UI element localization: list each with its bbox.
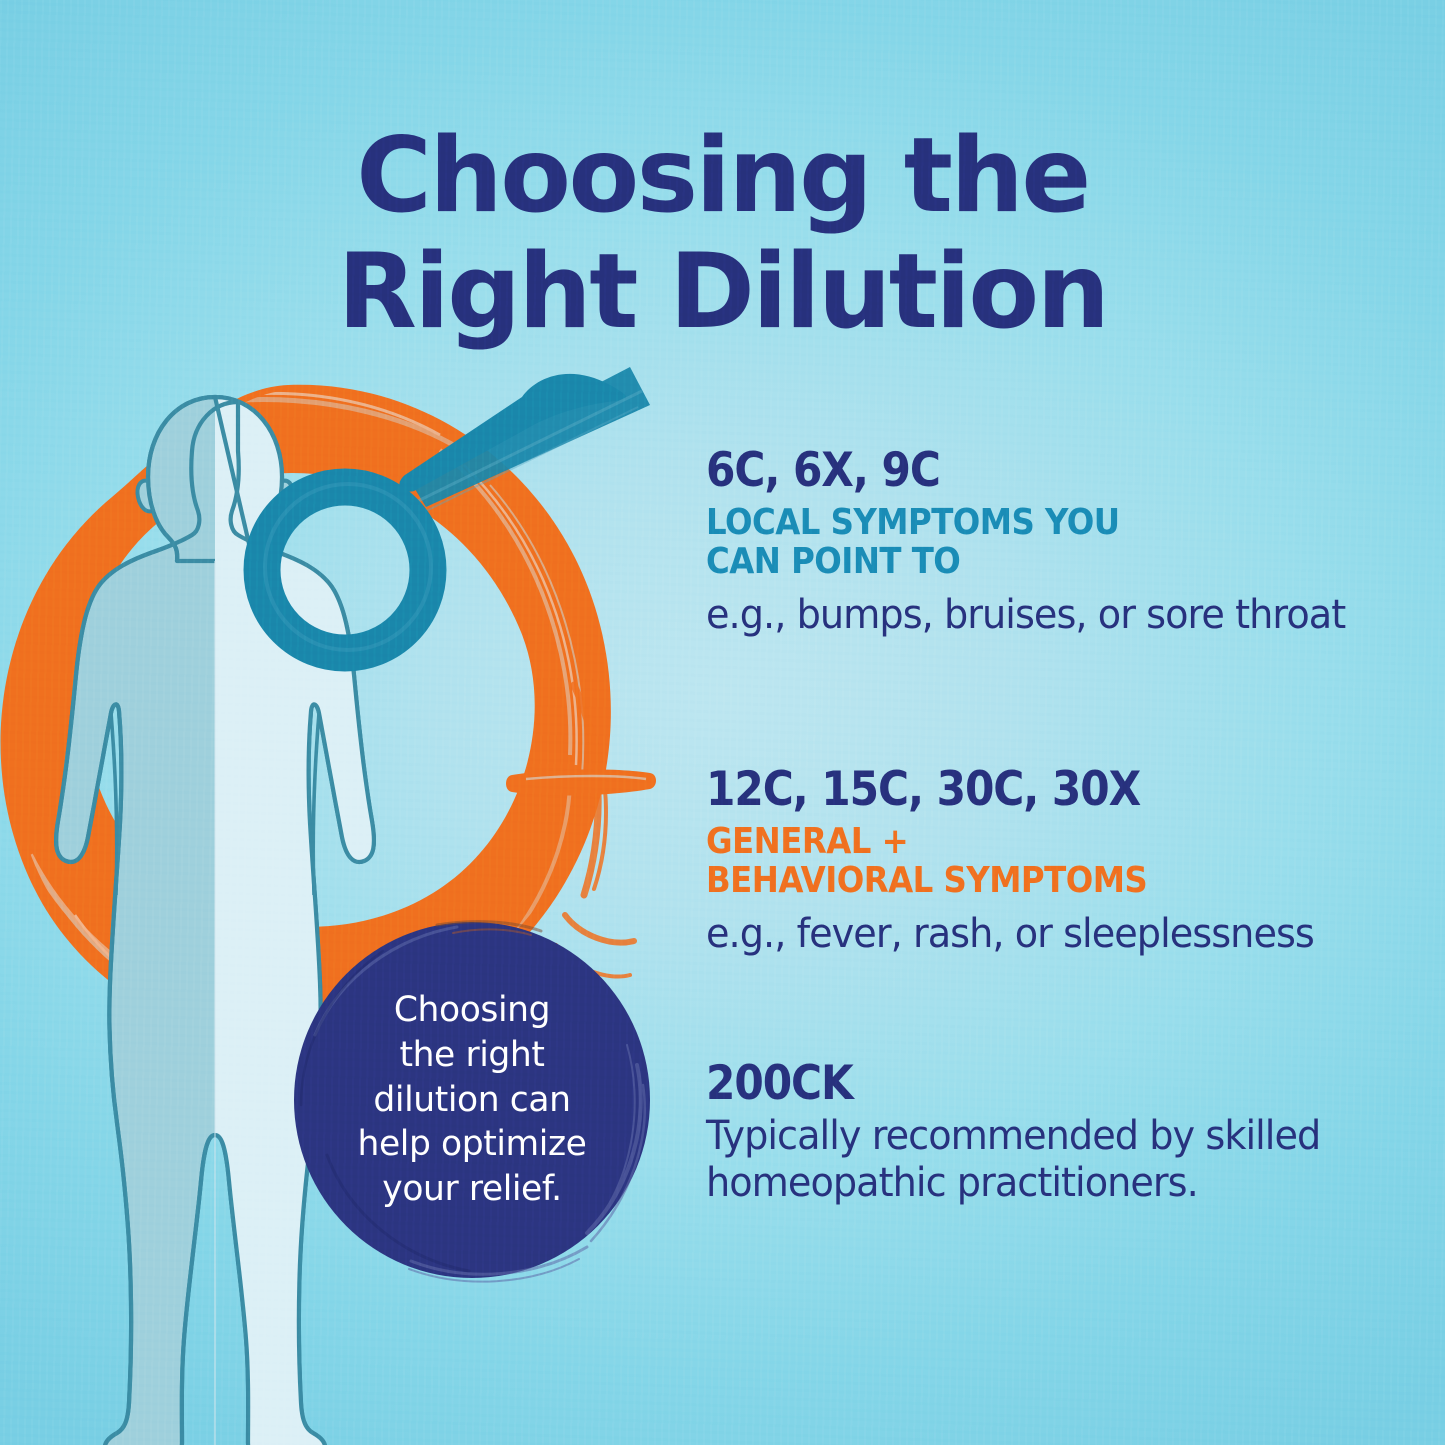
orange-pointer-stroke	[506, 769, 656, 795]
dilution-example: e.g., bumps, bruises, or sore throat	[706, 592, 1375, 639]
dilution-item-200ck: 200CK Typically recommended by skilled h…	[706, 1060, 1406, 1207]
dilution-subtitle: LOCAL SYMPTOMS YOU CAN POINT TO	[706, 503, 1336, 582]
dilution-code: 6C, 6X, 9C	[706, 447, 1336, 496]
dilution-code: 12C, 15C, 30C, 30X	[706, 766, 1336, 815]
dilution-example: Typically recommended by skilled homeopa…	[706, 1113, 1375, 1207]
navy-badge: Choosing the right dilution can help opt…	[287, 915, 657, 1285]
dilution-code: 200CK	[706, 1060, 1336, 1109]
dilution-subtitle: GENERAL + BEHAVIORAL SYMPTOMS	[706, 822, 1336, 901]
dilution-item-general: 12C, 15C, 30C, 30X GENERAL + BEHAVIORAL …	[706, 766, 1406, 958]
dilution-item-local: 6C, 6X, 9C LOCAL SYMPTOMS YOU CAN POINT …	[706, 447, 1406, 639]
page-title: Choosing the Right Dilution	[0, 118, 1445, 351]
dilution-example: e.g., fever, rash, or sleeplessness	[706, 911, 1375, 958]
badge-text: Choosing the right dilution can help opt…	[287, 915, 657, 1285]
infographic-poster: Choosing the right dilution can help opt…	[0, 0, 1445, 1445]
